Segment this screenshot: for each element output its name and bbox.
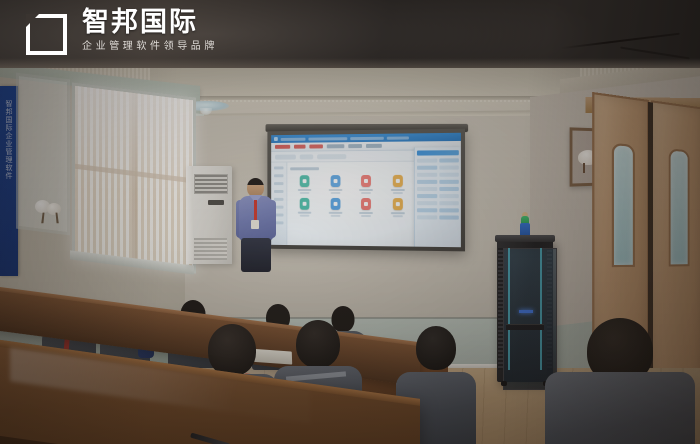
app-module-tile [290, 198, 319, 217]
ceiling-center-panel [150, 68, 580, 98]
window-daylight-glow [75, 86, 193, 270]
presenter-lanyard [254, 200, 257, 222]
brand-logo-text: 智邦国际 企业管理软件领导品牌 [82, 9, 218, 52]
app-module-grid [287, 162, 416, 247]
ac-grille [194, 174, 228, 194]
projection-screen [267, 129, 465, 252]
left-wall-banner-text: 智邦国际企业管理软件 [4, 100, 14, 180]
square-bracket-logo-icon [26, 12, 70, 58]
ac-vent [194, 238, 227, 260]
brand-logo: 智邦国际 企业管理软件领导品牌 [26, 9, 218, 58]
app-module-tile [383, 198, 413, 217]
app-module-tile [352, 198, 381, 217]
wall-sconce-lamp-left [33, 200, 63, 224]
app-side-form-panel [414, 147, 461, 247]
brand-name: 智邦国际 [82, 9, 218, 36]
audience-member-foreground [545, 318, 695, 444]
window-with-vertical-blinds [72, 82, 196, 273]
presenter-badge [251, 220, 259, 229]
screenshot-root: 智邦国际 企业管理软件领导品牌 [0, 0, 700, 444]
app-icon-grid [290, 175, 413, 217]
presenter-trousers [241, 238, 271, 272]
ac-display-panel [208, 200, 224, 205]
brand-banner: 智邦国际 企业管理软件领导品牌 [0, 0, 700, 68]
ceiling-trim-a [150, 96, 590, 100]
app-module-tile [290, 175, 319, 194]
photo-scene: 智邦国际企业管理软件 [0, 68, 700, 444]
app-module-tile [321, 175, 350, 194]
projected-software-ui [271, 133, 461, 247]
app-module-tile [352, 175, 381, 194]
brand-tagline: 企业管理软件领导品牌 [82, 42, 218, 52]
door-glass-panel [669, 148, 690, 266]
presenter-standing [236, 178, 276, 270]
presenter-head [247, 178, 264, 197]
door-glass-panel [612, 143, 635, 267]
rack-status-led [519, 310, 533, 313]
app-module-tile [321, 198, 350, 217]
app-module-tile [383, 175, 413, 194]
floor-standing-air-conditioner [186, 166, 232, 264]
